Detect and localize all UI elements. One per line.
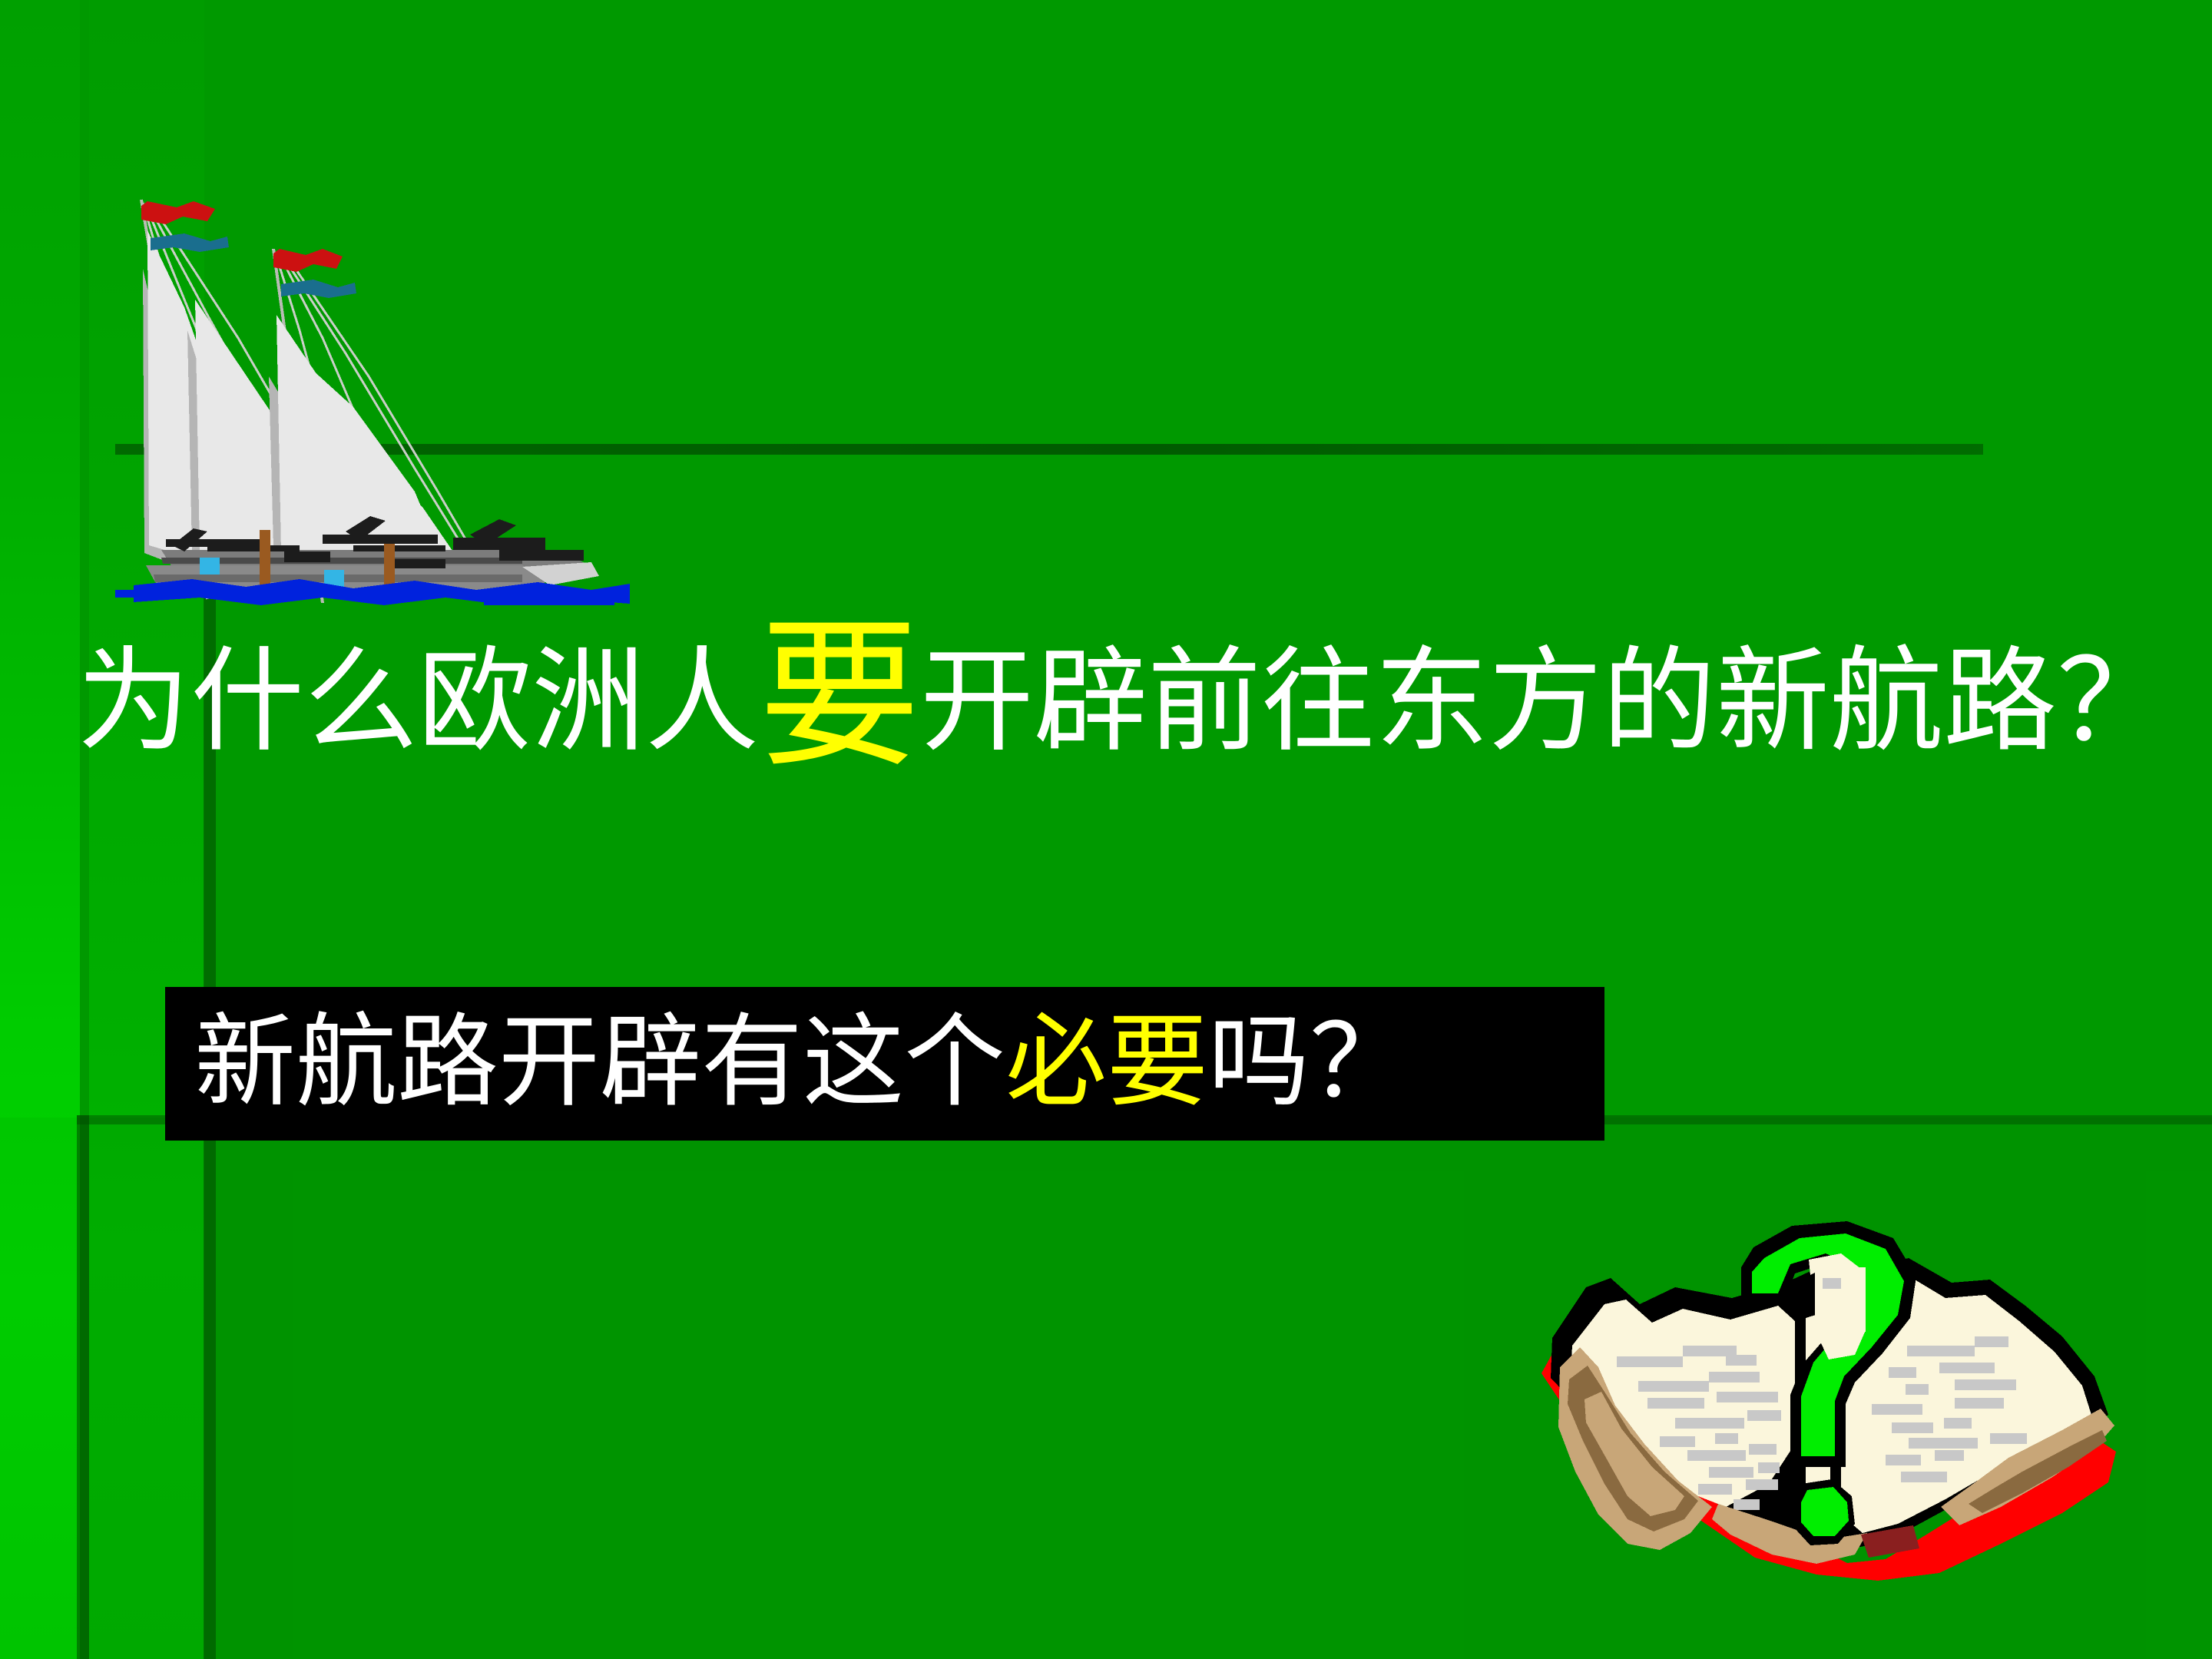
presentation-slide: 为什么欧洲人要开辟前往东方的新航路？ 新航路开辟有这个必要吗？: [0, 0, 2212, 1659]
sailing-ship-icon: [92, 184, 630, 614]
callout-box: 新航路开辟有这个必要吗？: [165, 987, 1604, 1141]
decorative-vertical-rule-left: [77, 1115, 89, 1659]
callout-suffix: 吗？: [1208, 1003, 1411, 1121]
title-highlight-char: 要: [759, 601, 920, 790]
title-suffix: 开辟前往东方的新航路？: [920, 635, 2171, 767]
callout-text: 新航路开辟有这个必要吗？: [194, 998, 1411, 1128]
callout-prefix: 新航路开辟有这个: [194, 1003, 1005, 1121]
slide-title: 为什么欧洲人要开辟前往东方的新航路？: [77, 639, 2151, 758]
title-prefix: 为什么欧洲人: [77, 635, 759, 767]
callout-highlight: 必要: [1005, 1003, 1208, 1121]
open-book-question-mark-icon: [1525, 1214, 2124, 1582]
